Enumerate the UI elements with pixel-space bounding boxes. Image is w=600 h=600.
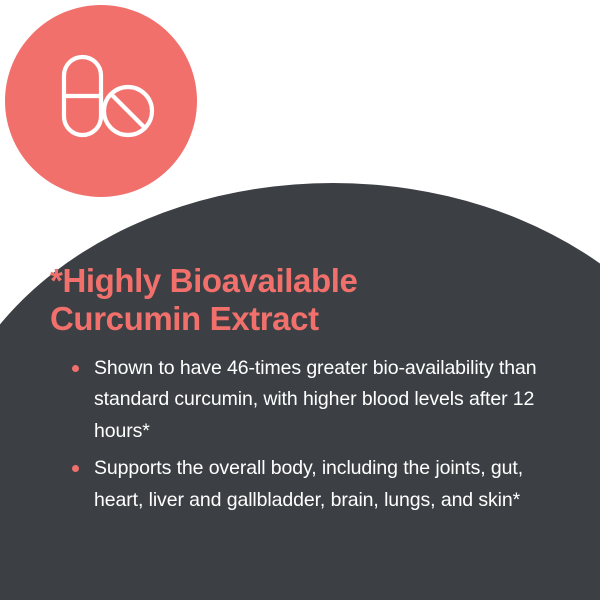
infographic-card: *Highly Bioavailable Curcumin Extract Sh… (0, 0, 600, 600)
bullet-dot-icon (72, 365, 79, 372)
list-item-text: Shown to have 46-times greater bio-avail… (94, 357, 536, 442)
page-title: *Highly Bioavailable Curcumin Extract (50, 262, 555, 339)
list-item: Shown to have 46-times greater bio-avail… (72, 353, 555, 448)
list-item: Supports the overall body, including the… (72, 453, 555, 516)
coral-badge-circle (5, 5, 197, 197)
pills-icon (55, 49, 165, 149)
benefits-list: Shown to have 46-times greater bio-avail… (50, 353, 555, 517)
text-content: *Highly Bioavailable Curcumin Extract Sh… (50, 262, 555, 522)
list-item-text: Supports the overall body, including the… (94, 457, 523, 511)
bullet-dot-icon (72, 465, 79, 472)
tablet-score-line (111, 94, 145, 128)
